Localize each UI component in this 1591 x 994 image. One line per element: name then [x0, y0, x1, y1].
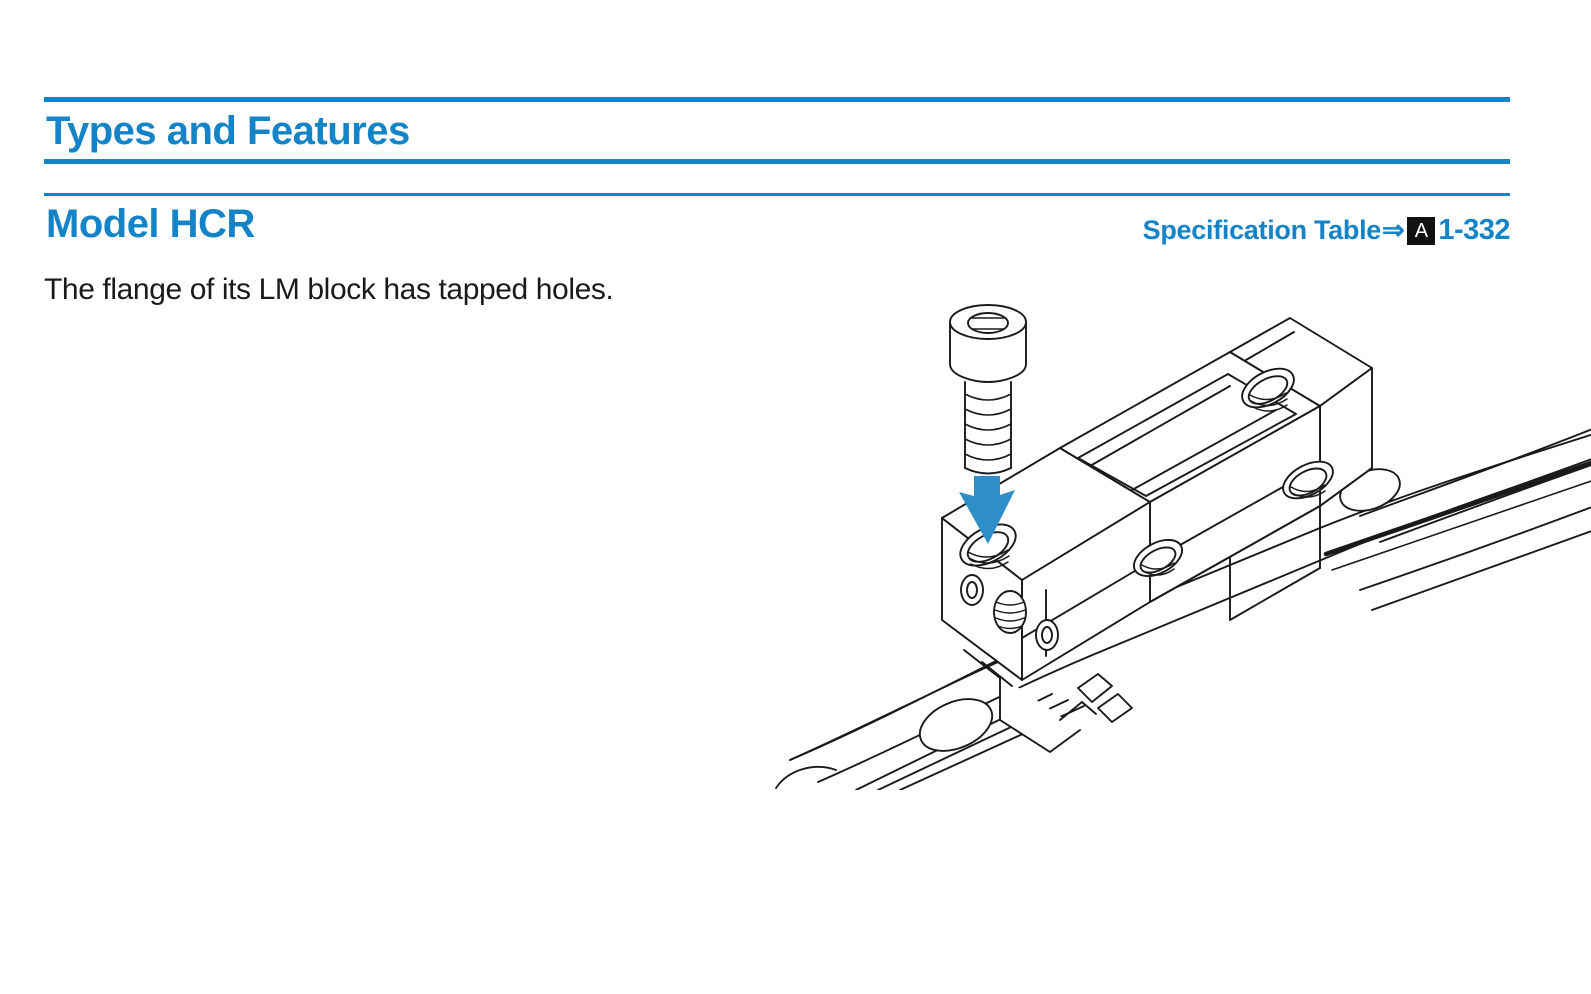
model-title-row: Model HCR Specification Table ⇒ A 1-332	[44, 202, 1510, 258]
model-title: Model HCR	[46, 204, 255, 244]
model-rule-top	[44, 193, 1510, 196]
socket-head-cap-screw	[950, 305, 1026, 474]
spec-ref-label: Specification Table	[1143, 215, 1381, 246]
screw-hex-socket	[968, 313, 1008, 333]
model-description: The flange of its LM block has tapped ho…	[44, 273, 613, 307]
section-header: Types and Features	[44, 97, 1510, 164]
model-header: Model HCR Specification Table ⇒ A 1-332	[44, 193, 1510, 258]
lm-guide-drawing	[760, 290, 1591, 790]
grease-nipple-hole-right	[1036, 620, 1058, 650]
section-title: Types and Features	[44, 102, 1510, 159]
product-illustration	[760, 290, 1591, 790]
section-badge-a: A	[1407, 217, 1435, 245]
specification-table-reference[interactable]: Specification Table ⇒ A 1-332	[1143, 214, 1510, 247]
double-arrow-right-icon: ⇒	[1382, 217, 1404, 244]
spec-ref-page-number: 1-332	[1438, 214, 1510, 247]
document-page: Types and Features Model HCR Specificati…	[0, 0, 1591, 994]
end-face-tapped-hole	[994, 591, 1026, 633]
grease-nipple-hole-left	[961, 575, 983, 605]
section-rule-bottom	[44, 159, 1510, 164]
